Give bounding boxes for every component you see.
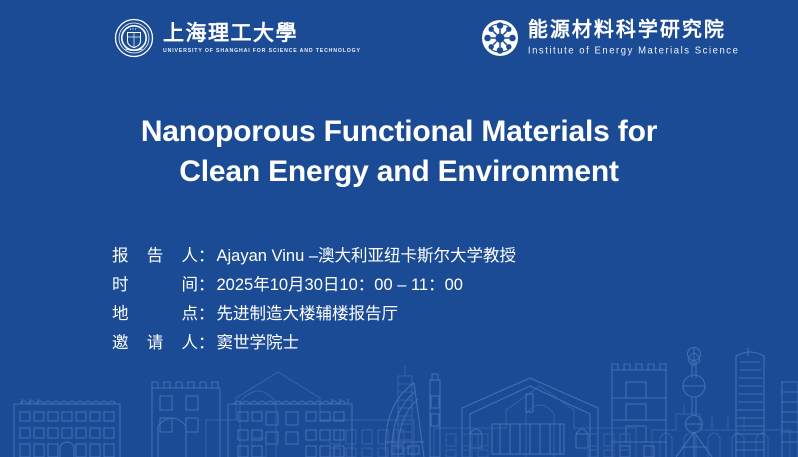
detail-colon-speaker: ： bbox=[198, 242, 217, 271]
lecture-title-line-2: Clean Energy and Environment bbox=[60, 152, 738, 192]
detail-colon-time: ： bbox=[198, 271, 217, 300]
detail-row-venue: 地 点 ： 先进制造大楼辅楼报告厅 bbox=[112, 300, 516, 329]
detail-value-host: 窦世学院士 bbox=[217, 329, 300, 358]
university-name-en: UNIVERSITY OF SHANGHAI FOR SCIENCE AND T… bbox=[163, 48, 361, 54]
detail-value-time: 2025年10月30日10：00 – 11：00 bbox=[217, 271, 463, 300]
detail-value-venue: 先进制造大楼辅楼报告厅 bbox=[217, 300, 399, 329]
detail-colon-venue: ： bbox=[198, 300, 217, 329]
detail-label-time: 时 间 bbox=[112, 271, 198, 300]
university-logo-text: 上海理工大學 UNIVERSITY OF SHANGHAI FOR SCIENC… bbox=[163, 22, 361, 53]
university-logo: 上海理工大學 UNIVERSITY OF SHANGHAI FOR SCIENC… bbox=[114, 18, 361, 58]
institute-name-cn: 能源材料科学研究院 bbox=[528, 20, 740, 41]
university-name-cn: 上海理工大學 bbox=[163, 22, 361, 44]
molecular-network-icon bbox=[481, 19, 519, 57]
skyline-illustration bbox=[0, 342, 798, 457]
institute-logo-text: 能源材料科学研究院 Institute of Energy Materials … bbox=[528, 20, 740, 56]
seminar-poster: 上海理工大學 UNIVERSITY OF SHANGHAI FOR SCIENC… bbox=[0, 0, 798, 457]
lecture-details: 报 告 人 ： Ajayan Vinu –澳大利亚纽卡斯尔大学教授 时 间 ： … bbox=[112, 242, 516, 358]
lecture-title-line-1: Nanoporous Functional Materials for bbox=[60, 112, 738, 152]
detail-colon-host: ： bbox=[198, 329, 217, 358]
detail-label-speaker: 报 告 人 bbox=[112, 242, 198, 271]
detail-row-time: 时 间 ： 2025年10月30日10：00 – 11：00 bbox=[112, 271, 516, 300]
institute-name-en: Institute of Energy Materials Science bbox=[528, 45, 740, 57]
lecture-title: Nanoporous Functional Materials for Clea… bbox=[0, 112, 798, 192]
detail-label-host: 邀 请 人 bbox=[112, 329, 198, 358]
detail-value-speaker: Ajayan Vinu –澳大利亚纽卡斯尔大学教授 bbox=[217, 242, 517, 271]
detail-label-venue: 地 点 bbox=[112, 300, 198, 329]
institute-logo: 能源材料科学研究院 Institute of Energy Materials … bbox=[481, 19, 740, 57]
poster-header: 上海理工大學 UNIVERSITY OF SHANGHAI FOR SCIENC… bbox=[0, 14, 798, 62]
detail-row-speaker: 报 告 人 ： Ajayan Vinu –澳大利亚纽卡斯尔大学教授 bbox=[112, 242, 516, 271]
university-seal-icon bbox=[114, 18, 154, 58]
detail-row-host: 邀 请 人 ： 窦世学院士 bbox=[112, 329, 516, 358]
